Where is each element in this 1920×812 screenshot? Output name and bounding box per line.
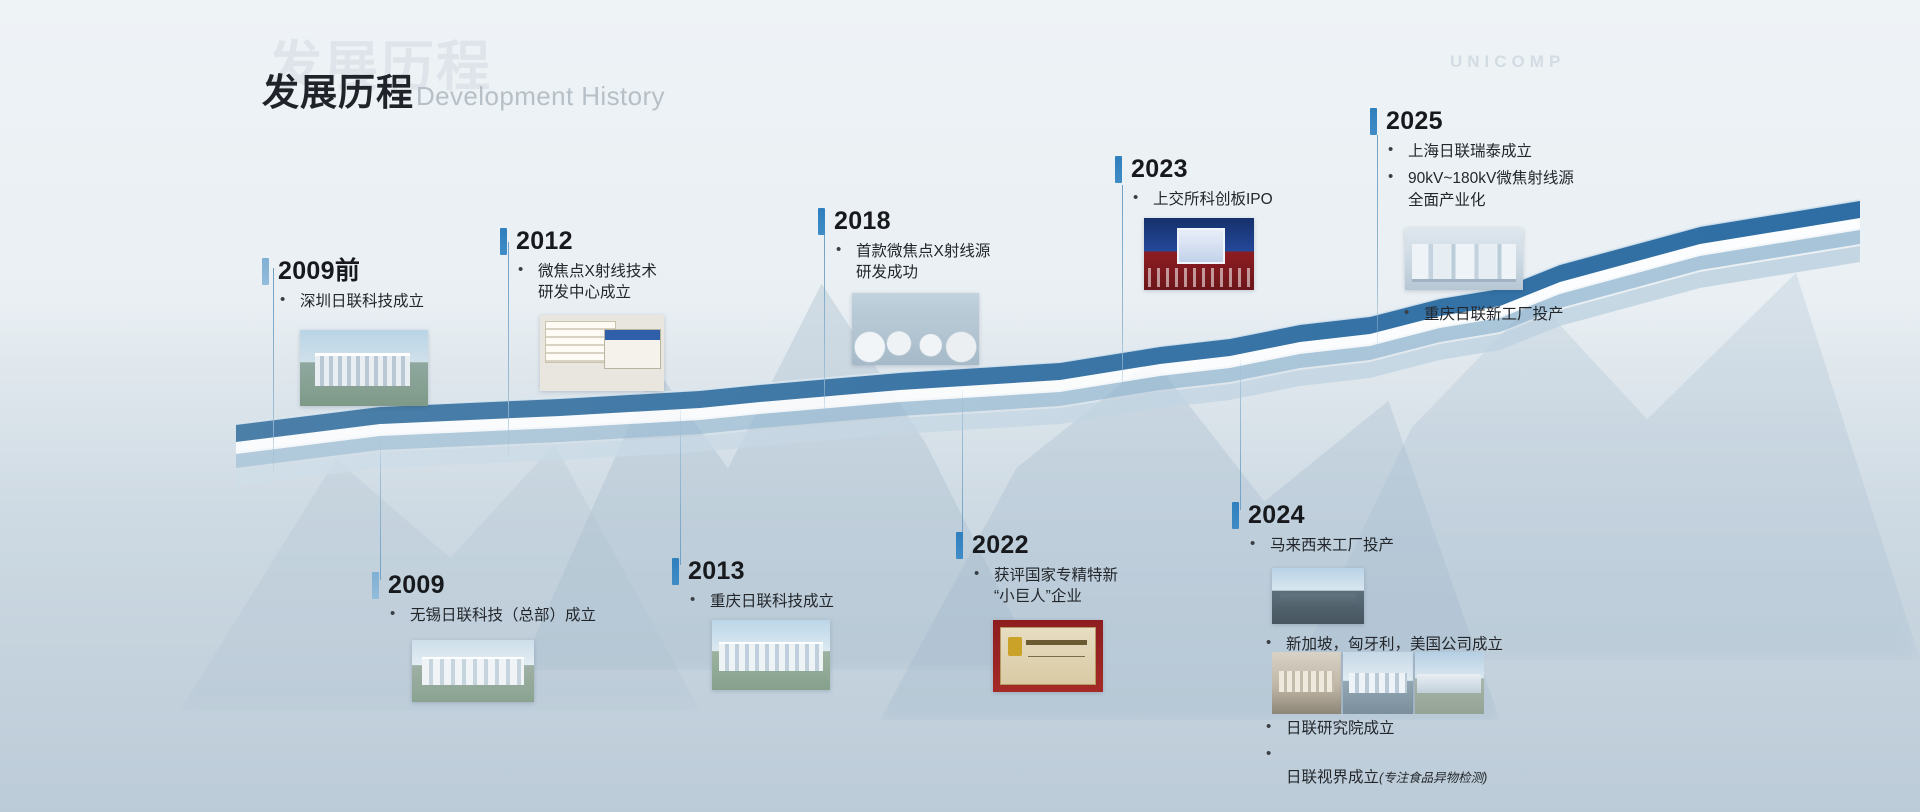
list-item: 首款微焦点X射线源 研发成功	[834, 241, 990, 284]
milestone-year: 2023	[1131, 157, 1188, 182]
milestone-items: 重庆日联科技成立	[672, 591, 834, 612]
milestone-year: 2018	[834, 209, 891, 234]
xray-source-equipment-photo	[1405, 228, 1523, 290]
shenzhen-campus-photo	[300, 330, 428, 406]
list-item-note: (专注食品异物检测)	[1379, 771, 1487, 785]
milestone-year: 2009前	[278, 259, 360, 284]
milestone-items: 马来西来工厂投产	[1232, 535, 1394, 556]
year-accent-bar-icon	[818, 208, 825, 235]
milestone-year-row: 2023	[1115, 156, 1273, 183]
list-item: 日联研究院成立	[1264, 718, 1487, 739]
milestone-year-row: 2013	[672, 558, 834, 585]
milestone-items: 上海日联瑞泰成立 90kV~180kV微焦射线源 全面产业化	[1370, 141, 1574, 211]
milestone-items: 获评国家专精特新 “小巨人”企业	[956, 565, 1118, 608]
connector-2022	[962, 390, 963, 535]
list-item: 重庆日联科技成立	[688, 591, 834, 612]
list-item: 深圳日联科技成立	[278, 291, 424, 312]
milestone-year: 2025	[1386, 109, 1443, 134]
milestone-year-row: 2024	[1232, 502, 1394, 529]
list-item: 微焦点X射线技术 研发中心成立	[516, 261, 657, 304]
milestone-year-row: 2018	[818, 208, 990, 235]
list-item-label: 日联视界成立	[1286, 769, 1379, 786]
list-item: 上海日联瑞泰成立	[1386, 141, 1574, 162]
milestone-items: 微焦点X射线技术 研发中心成立	[500, 261, 657, 304]
milestone-items: 首款微焦点X射线源 研发成功	[818, 241, 990, 284]
milestone-items: 深圳日联科技成立	[262, 291, 424, 312]
rd-center-documents-photo	[540, 315, 664, 391]
list-item: 马来西来工厂投产	[1248, 535, 1394, 556]
office-photo-usa	[1415, 652, 1484, 714]
list-item: 上交所科创板IPO	[1131, 189, 1273, 210]
office-photo-singapore	[1272, 652, 1341, 714]
wuxi-headquarters-photo	[412, 640, 534, 702]
malaysia-factory-photo	[1272, 568, 1364, 624]
connector-2013	[680, 410, 681, 565]
milestone-year-row: 2009	[372, 572, 596, 599]
milestone-year: 2022	[972, 533, 1029, 558]
milestone-year: 2024	[1248, 503, 1305, 528]
milestone-2025[interactable]: 2025 上海日联瑞泰成立 90kV~180kV微焦射线源 全面产业化	[1370, 108, 1574, 211]
milestone-year-row: 2009前	[262, 258, 424, 285]
milestone-year: 2012	[516, 229, 573, 254]
milestone-2009-before[interactable]: 2009前 深圳日联科技成立	[262, 258, 424, 312]
milestone-2018[interactable]: 2018 首款微焦点X射线源 研发成功	[818, 208, 990, 284]
overseas-offices-photo-strip	[1272, 652, 1484, 714]
milestone-2012[interactable]: 2012 微焦点X射线技术 研发中心成立	[500, 228, 657, 304]
list-item: 90kV~180kV微焦射线源 全面产业化	[1386, 168, 1574, 211]
year-accent-bar-icon	[672, 558, 679, 585]
milestone-2022[interactable]: 2022 获评国家专精特新 “小巨人”企业	[956, 532, 1118, 608]
milestone-items: 上交所科创板IPO	[1115, 189, 1273, 210]
office-photo-hungary	[1343, 652, 1412, 714]
connector-2024	[1240, 360, 1241, 510]
list-item: 日联视界成立(专注食品异物检测)	[1264, 745, 1487, 788]
ipo-ceremony-photo	[1144, 218, 1254, 290]
year-accent-bar-icon	[500, 228, 507, 255]
milestone-year-row: 2025	[1370, 108, 1574, 135]
connector-2023	[1122, 185, 1123, 400]
milestone-2013[interactable]: 2013 重庆日联科技成立	[672, 558, 834, 612]
year-accent-bar-icon	[1115, 156, 1122, 183]
milestone-items: 无锡日联科技（总部）成立	[372, 605, 596, 626]
timeline-ribbon	[0, 0, 1920, 812]
list-item: 重庆日联新工厂投产	[1402, 304, 1564, 325]
year-accent-bar-icon	[1232, 502, 1239, 529]
milestone-year: 2013	[688, 559, 745, 584]
little-giant-award-plaque-photo	[993, 620, 1103, 692]
year-accent-bar-icon	[262, 258, 269, 285]
connector-2009	[380, 440, 381, 580]
year-accent-bar-icon	[1370, 108, 1377, 135]
plaque-inner	[1000, 627, 1096, 685]
milestone-year-row: 2012	[500, 228, 657, 255]
timeline-infographic: 发展历程 UNICOMP 发展历程 Development History	[0, 0, 1920, 812]
list-item: 无锡日联科技（总部）成立	[388, 605, 596, 626]
year-accent-bar-icon	[956, 532, 963, 559]
milestone-2025-extra-items: 重庆日联新工厂投产	[1386, 298, 1564, 325]
year-accent-bar-icon	[372, 572, 379, 599]
chongqing-campus-photo	[712, 620, 830, 690]
milestone-year: 2009	[388, 573, 445, 598]
list-item: 获评国家专精特新 “小巨人”企业	[972, 565, 1118, 608]
milestone-2024-extra-items: 日联研究院成立 日联视界成立(专注食品异物检测)	[1248, 712, 1487, 788]
milestone-year-row: 2022	[956, 532, 1118, 559]
milestone-2009[interactable]: 2009 无锡日联科技（总部）成立	[372, 572, 596, 626]
milestone-2023[interactable]: 2023 上交所科创板IPO	[1115, 156, 1273, 210]
lab-team-photo	[852, 293, 979, 365]
milestone-2024[interactable]: 2024 马来西来工厂投产	[1232, 502, 1394, 556]
